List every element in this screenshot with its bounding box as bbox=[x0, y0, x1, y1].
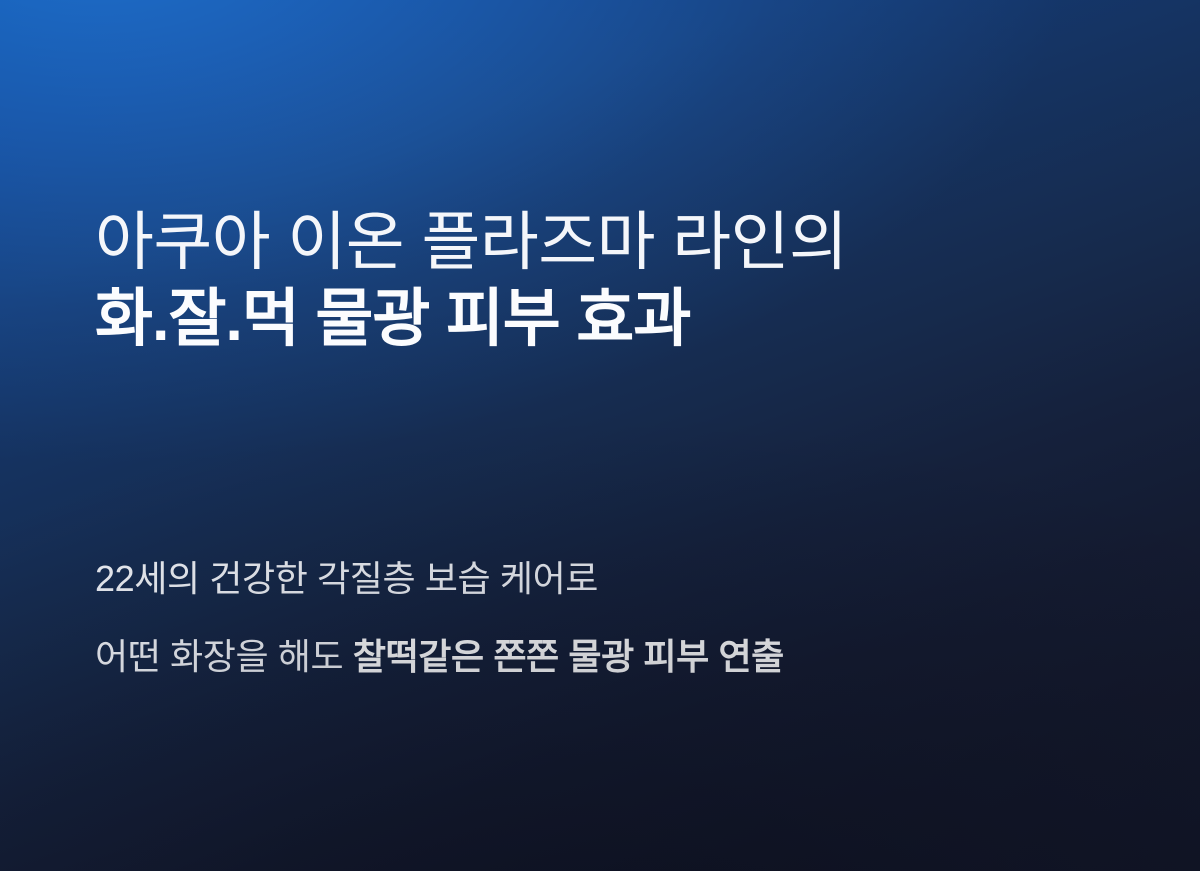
headline-line-1: 아쿠아 이온 플라즈마 라인의 bbox=[95, 205, 847, 279]
body-copy-block: 22세의 건강한 각질층 보습 케어로 어떤 화장을 해도 찰떡같은 쫀쫀 물광… bbox=[95, 540, 784, 696]
body-line-2-emphasis: 찰떡같은 쫀쫀 물광 피부 연출 bbox=[353, 636, 784, 677]
body-line-1: 22세의 건강한 각질층 보습 케어로 bbox=[95, 540, 784, 618]
body-line-2-prefix: 어떤 화장을 해도 bbox=[95, 636, 353, 677]
promo-banner: 아쿠아 이온 플라즈마 라인의 화.잘.먹 물광 피부 효과 22세의 건강한 … bbox=[0, 0, 1200, 871]
headline-line-2: 화.잘.먹 물광 피부 효과 bbox=[95, 279, 847, 361]
headline-block: 아쿠아 이온 플라즈마 라인의 화.잘.먹 물광 피부 효과 bbox=[95, 205, 847, 361]
banner-content: 아쿠아 이온 플라즈마 라인의 화.잘.먹 물광 피부 효과 22세의 건강한 … bbox=[95, 0, 1200, 871]
body-line-2: 어떤 화장을 해도 찰떡같은 쫀쫀 물광 피부 연출 bbox=[95, 618, 784, 696]
